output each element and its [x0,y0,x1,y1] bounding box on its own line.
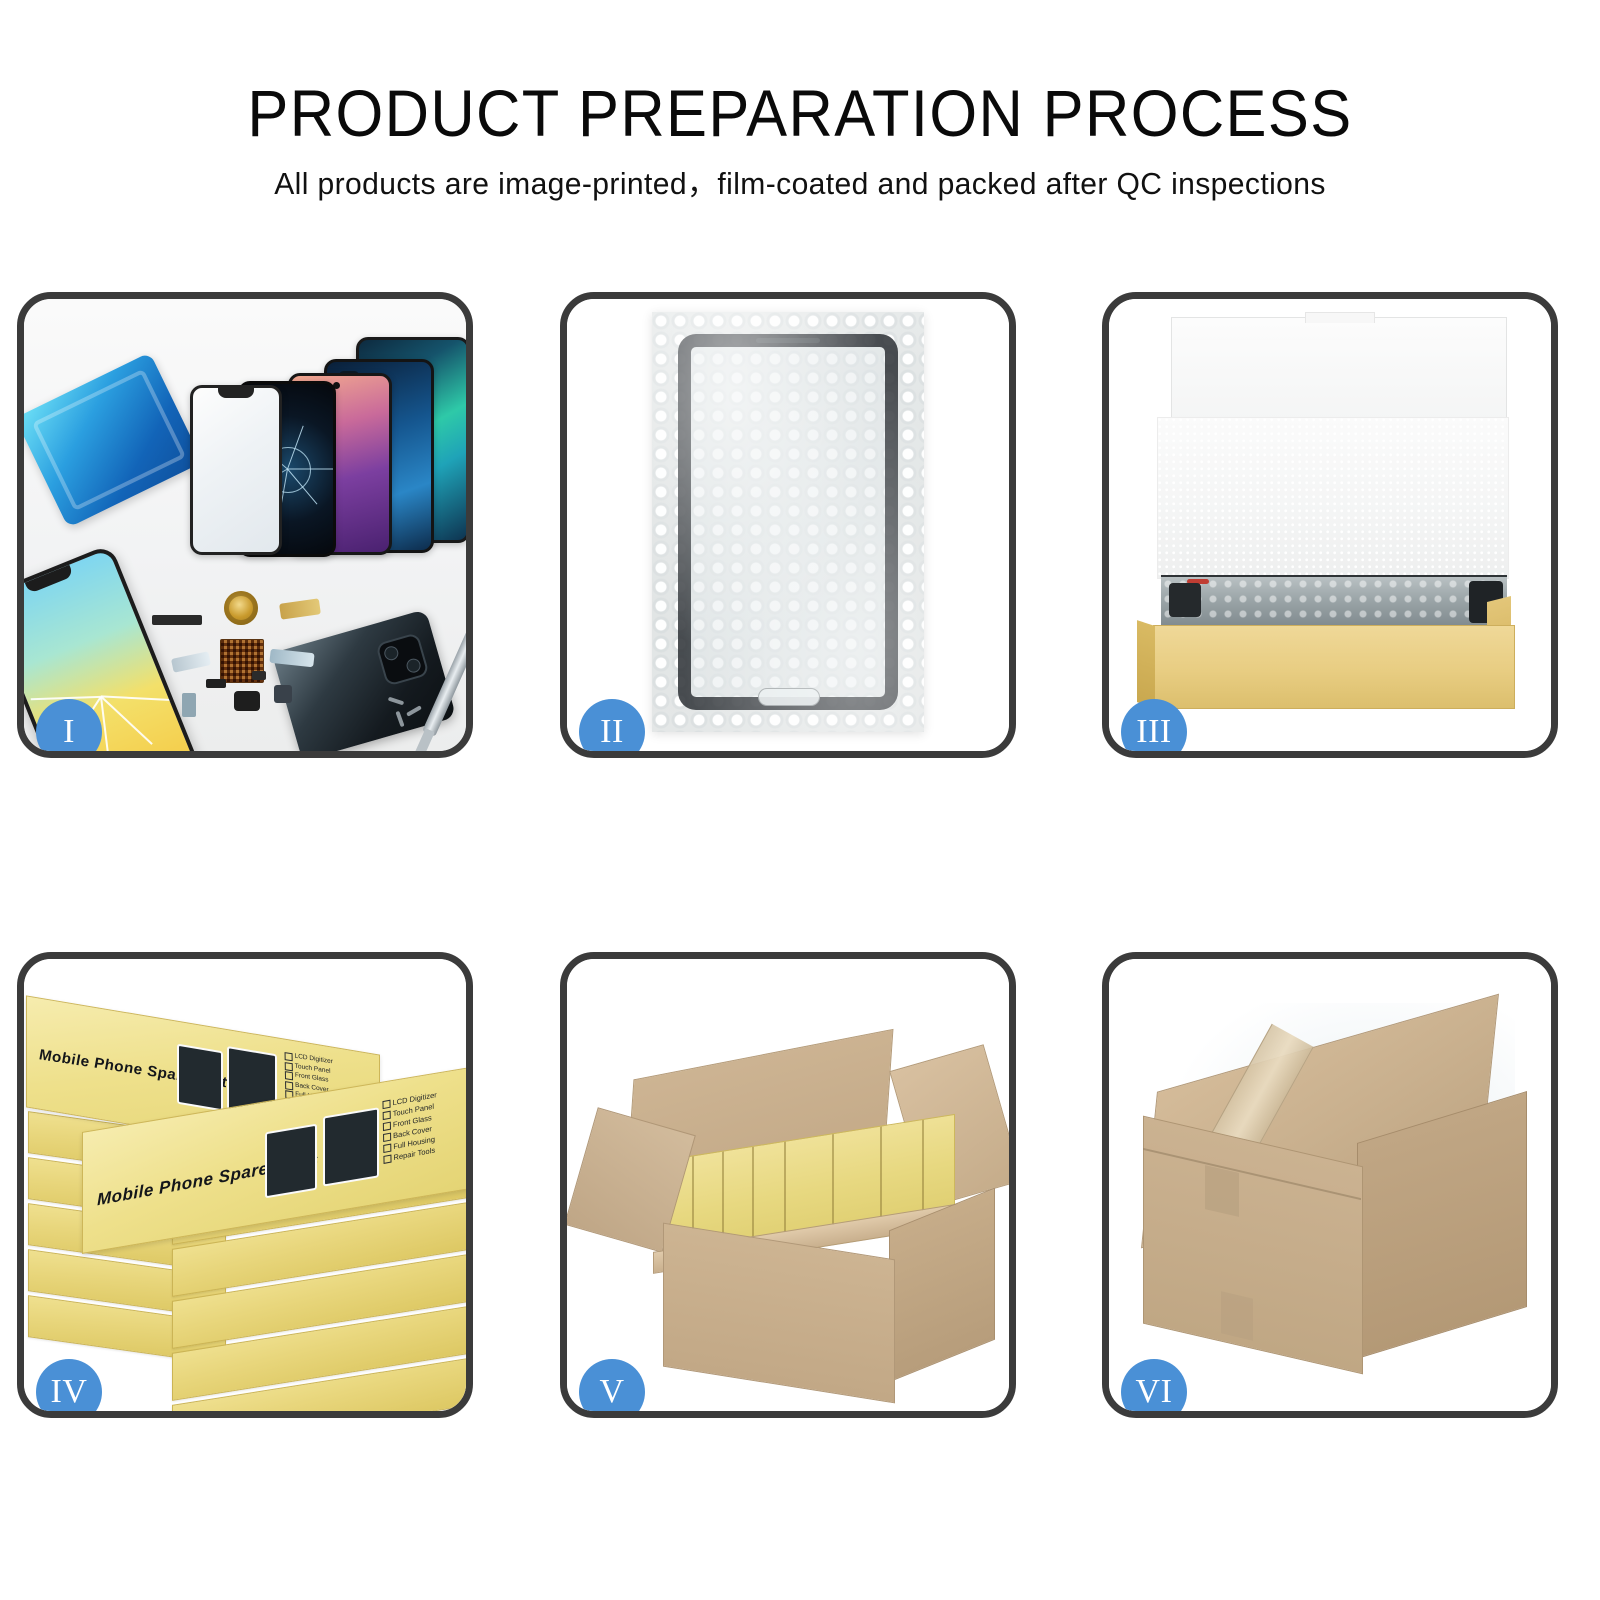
bubble-texture-overlay [1161,577,1507,629]
step-1-image: 08:08 [24,299,466,751]
step-panel-5[interactable]: V [560,952,1016,1418]
step-panel-4[interactable]: Mobile Phone Spare Parts LCD Digitizer T… [17,952,473,1418]
step-badge-6: VI [1121,1359,1187,1418]
box-checklist-front: LCD Digitizer Touch Panel Front Glass Ba… [382,1089,437,1165]
speaker-bar-part [152,615,202,625]
crack-line-icon [100,696,170,701]
screw-icon [388,697,404,706]
box-print-thumbnail [265,1124,317,1199]
inner-box-stage [1109,299,1551,751]
home-button-icon [758,688,820,706]
step-badge-5: V [579,1359,645,1418]
box-print-thumbnail [323,1107,379,1186]
step-panel-3[interactable]: III [1102,292,1558,758]
flex-cable-part [279,598,321,619]
step-panel-1[interactable]: 08:08 [17,292,473,758]
step-3-image [1109,299,1551,751]
camera-module-part [274,685,292,703]
notch-icon [218,388,254,398]
box-front-wall [1153,625,1515,709]
step-badge-2: II [579,699,645,758]
wrapped-screen-assembly [678,334,898,710]
step-5-image [567,959,1009,1411]
small-component-part [206,679,226,688]
sim-tray-part [182,693,196,717]
retail-box-stack-stage: Mobile Phone Spare Parts LCD Digitizer T… [24,959,466,1411]
screws-group [388,695,440,725]
carton-flap-tab [1221,1291,1253,1340]
sealed-carton-stage [1109,959,1551,1411]
crack-line-icon [100,697,152,746]
open-carton-stage [567,959,1009,1411]
screw-icon [395,711,404,727]
step-panel-2[interactable]: II [560,292,1016,758]
phone-parts-collage: 08:08 [24,299,466,751]
step-panel-6[interactable]: VI [1102,952,1558,1418]
notch-icon [25,565,74,594]
flex-cable-part [171,651,211,673]
camera-lens-icon [375,632,429,686]
step-6-image [1109,959,1551,1411]
page-subtitle: All products are image-printed，film-coat… [24,166,1576,202]
step-badge-4: IV [36,1359,102,1418]
packed-screen [1161,575,1507,629]
carton-flap-tab [1205,1165,1239,1217]
step-4-image: Mobile Phone Spare Parts LCD Digitizer T… [24,959,466,1411]
white-foam-insert [1157,417,1509,579]
page-header: PRODUCT PREPARATION PROCESS All products… [0,0,1600,202]
carton-front-wall [663,1223,895,1404]
front-glass-panel [190,385,282,555]
screw-icon [406,705,422,716]
step-2-image [567,299,1009,751]
small-component-part [252,671,266,680]
page-title: PRODUCT PREPARATION PROCESS [56,78,1544,148]
step-badge-3: III [1121,699,1187,758]
screen-flex-tab [1169,583,1201,617]
bubble-wrap-stage [567,299,1009,751]
box-print-thumbnail [177,1044,223,1112]
camera-module-part [234,691,260,711]
step-badge-1: I [36,699,102,758]
crack-line-icon [288,469,334,470]
adhesive-frame-part [24,352,203,527]
wireless-coil-part [224,591,258,625]
process-step-grid: 08:08 [0,292,1600,1472]
bubble-wrap-sheet [652,312,924,732]
earpiece-speaker-icon [756,338,820,343]
